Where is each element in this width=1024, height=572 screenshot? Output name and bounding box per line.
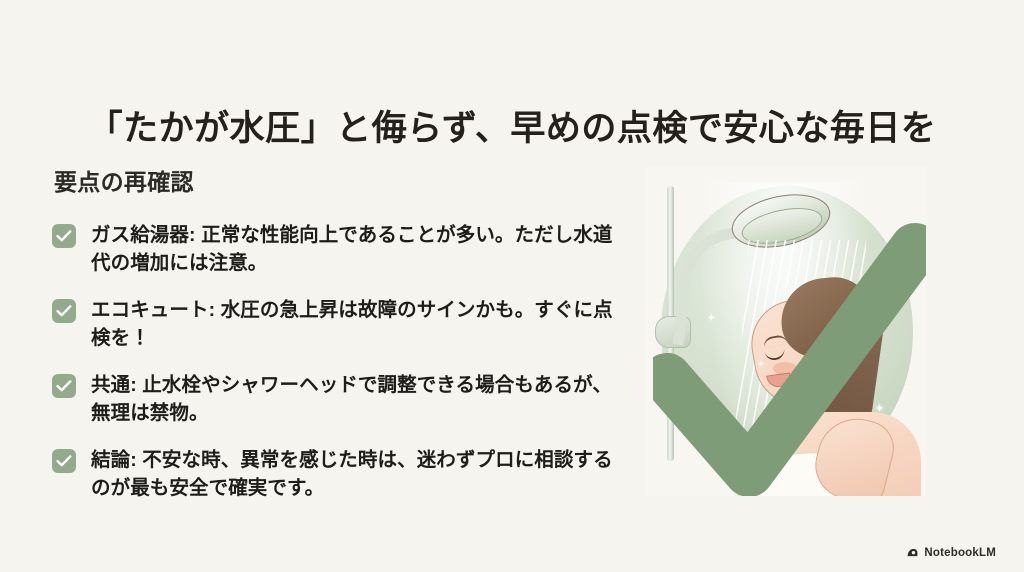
check-icon (52, 374, 76, 398)
section-heading: 要点の再確認 (54, 163, 622, 197)
list-item-label: エコキュート: 水圧の急上昇は故障のサインかも。すぐに点検を！ (91, 296, 622, 353)
list-item: エコキュート: 水圧の急上昇は故障のサインかも。すぐに点検を！ (52, 296, 622, 353)
slide-canvas: 「たかが水圧」と侮らず、早めの点検で安心な毎日を 要点の再確認 ガス給湯器: 正… (0, 0, 1024, 572)
notebooklm-logo-icon (906, 546, 919, 559)
footer-brand: NotebookLM (906, 546, 996, 559)
list-item: 共通: 止水栓やシャワーヘッドで調整できる場合もあるが、無理は禁物。 (52, 371, 622, 428)
page-title: 「たかが水圧」と侮らず、早めの点検で安心な毎日を (0, 107, 1024, 151)
list-item: ガス給湯器: 正常な性能向上であることが多い。ただし水道代の増加には注意。 (52, 221, 622, 278)
list-item-label: 結論: 不安な時、異常を感じた時は、迷わずプロに相談するのが最も安全で確実です。 (91, 446, 622, 503)
brand-name: NotebookLM (924, 547, 996, 559)
list-item-label: ガス給湯器: 正常な性能向上であることが多い。ただし水道代の増加には注意。 (91, 221, 622, 278)
list-item: 結論: 不安な時、異常を感じた時は、迷わずプロに相談するのが最も安全で確実です。 (52, 446, 622, 503)
large-check-icon (653, 210, 926, 496)
list-item-label: 共通: 止水栓やシャワーヘッドで調整できる場合もあるが、無理は禁物。 (91, 371, 622, 428)
check-icon (52, 224, 76, 248)
bullet-list: ガス給湯器: 正常な性能向上であることが多い。ただし水道代の増加には注意。 エコ… (52, 221, 622, 503)
key-points-section: 要点の再確認 ガス給湯器: 正常な性能向上であることが多い。ただし水道代の増加に… (52, 163, 622, 521)
illustration-panel: ✦ ✦ ✦ ✦ (645, 166, 926, 496)
check-icon (52, 449, 76, 473)
check-icon (52, 299, 76, 323)
